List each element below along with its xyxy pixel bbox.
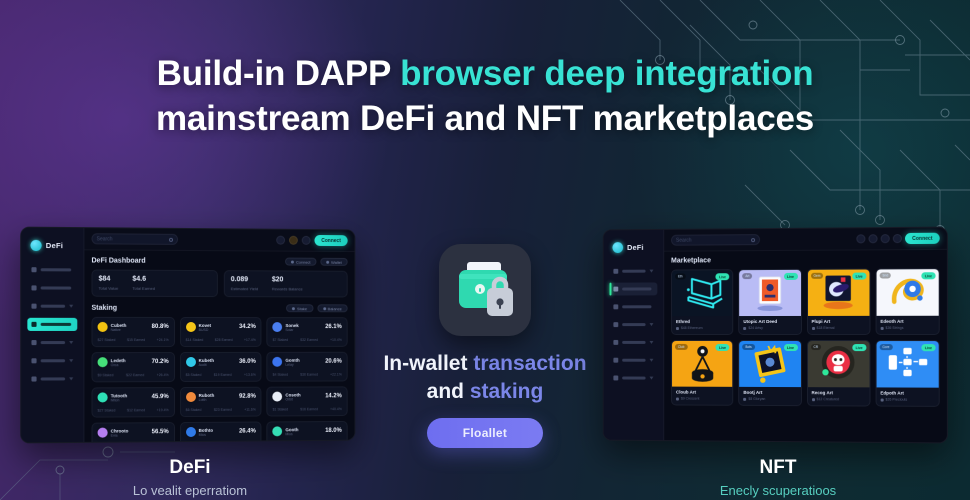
nft-card[interactable]: BotsLiveBootj Art$8 Gloryan [738, 340, 801, 406]
nav-item-icon [613, 358, 618, 363]
stat-value: $84 [99, 276, 119, 285]
nft-meta: Bootj Art$8 Gloryan [739, 387, 800, 405]
center-text-blue-2: staking [470, 380, 544, 403]
staking-pool-card[interactable]: GomthLelay20.6%$4 Staked$30 Earned+22.1% [267, 352, 348, 382]
pool-staked: $14 Staked [186, 338, 204, 342]
nft-artwork: CoreLive [876, 341, 938, 388]
currency-icon [812, 326, 815, 329]
pool-change: +17.4% [244, 338, 256, 342]
status-badge: Live [921, 344, 935, 351]
stat-label: Total Earned [132, 286, 155, 291]
nft-nav-list [609, 265, 659, 385]
pool-staked: $27 Staked [98, 409, 116, 413]
pool-names: GomthLelay [285, 357, 299, 367]
nav-item-icon [31, 358, 36, 363]
currency-icon [880, 398, 883, 401]
nft-content: Marketplace EthLiveEthred$48 EthereumArt… [664, 250, 947, 443]
pool-names: KubethAudit [199, 358, 214, 368]
pool-footer: $9 Staked$22 Earned+26.4% [98, 373, 169, 377]
defi-dashboard-title: DeFi Dashboard [91, 257, 145, 264]
caption-nft-subtitle: Enecly scuperatioos [648, 483, 908, 498]
pool-subtitle: Lelay [285, 363, 299, 367]
nav-item-icon [31, 285, 36, 290]
headline-line-1: Build-in DAPP browser deep integration [0, 52, 970, 97]
sidebar-item-transaction[interactable] [27, 318, 77, 331]
nft-name: Ethred [676, 319, 729, 324]
sidebar-item-stake[interactable] [27, 300, 77, 313]
pool-subtitle: Lotth [199, 398, 215, 402]
pool-change: +11.6% [244, 408, 256, 412]
sidebar-item-discover[interactable] [27, 281, 77, 294]
token-icon [273, 357, 283, 367]
pool-header: RubothLotth92.8% [186, 392, 256, 402]
nft-name: Utopic Art Deed [743, 319, 796, 324]
pool-staked: $4 Staked [273, 373, 289, 377]
pool-earned: $30 Earned [300, 373, 318, 377]
caption-nft-title: NFT [648, 458, 908, 479]
sidebar-item-label [41, 341, 65, 344]
sidebar-item-label [622, 359, 645, 362]
nft-card-grid: EthLiveEthred$48 EthereumArtLiveUtopic A… [671, 268, 940, 407]
pool-header: TutoothMitoh45.9% [98, 392, 169, 402]
token-icon [98, 393, 108, 403]
pool-staked: $1 Staked [273, 408, 289, 412]
pool-change: +40.4% [330, 408, 342, 412]
pool-earned: $23 Earned [214, 408, 232, 412]
pool-subtitle: Solar [285, 328, 298, 332]
sidebar-item-my-stats[interactable] [27, 354, 77, 367]
defi-sidebar: DeFi [21, 228, 84, 443]
stake-button[interactable]: Stake [286, 305, 313, 313]
nft-artwork: BotsLive [739, 341, 800, 387]
nft-meta: Ethred$48 Ethereum [672, 316, 732, 334]
token-icon [98, 322, 108, 332]
nft-tag: Gem [811, 273, 824, 279]
nft-price-label: $48 Ethereum [681, 326, 703, 330]
button-label: Balance [328, 306, 342, 311]
pool-names: KovetBUSD [199, 323, 211, 333]
chevron-down-icon [650, 323, 654, 326]
nft-meta: Plupi Art$18 Eternal [808, 316, 870, 334]
dot-icon [326, 260, 329, 263]
staking-pool-card[interactable]: KubethAudit36.0%$5 Staked$19 Earned+13.6… [180, 352, 262, 382]
nft-marketplace-title: Marketplace [671, 257, 711, 264]
pool-names: RubothLotth [199, 392, 215, 402]
sidebar-item-label [622, 323, 645, 326]
stat-item: $20Rewards Balance [272, 276, 303, 291]
sidebar-item-transfer[interactable] [610, 372, 658, 385]
nft-logo-label: DeFi [627, 243, 644, 252]
pool-earned: $28 Earned [215, 338, 233, 342]
staking-pool-card[interactable]: GoothMios18.0%$10 Staked$21 Earned+69.1% [267, 421, 348, 442]
staking-pool-card[interactable]: CubethNative80.8%$27 Staked$15 Earned+24… [91, 317, 174, 347]
nft-tag: Art [742, 273, 752, 279]
button-label: Wallet [331, 259, 342, 264]
nft-price-label: $36 Strings [885, 326, 903, 330]
nft-price: $8 Gloryan [743, 397, 796, 401]
nav-item-icon [613, 304, 618, 309]
pool-apy: 45.9% [152, 394, 169, 400]
nft-tag: Bots [742, 344, 754, 350]
pool-earned: $19 Earned [214, 373, 232, 377]
button-label: Connect [296, 259, 311, 264]
defi-pool-grid: CubethNative80.8%$27 Staked$15 Earned+24… [91, 317, 347, 442]
wallet-lock-svg [439, 244, 531, 336]
nft-card[interactable]: EthLiveEthred$48 Ethereum [671, 269, 733, 335]
defi-app-mockup: DeFi Search Connect DeFi Dashboard [20, 227, 355, 444]
defi-stats-row: $84Total Value$4.6Total Earned0.089Estim… [91, 270, 347, 298]
token-icon [273, 392, 283, 402]
defi-staking-title: Staking [91, 305, 117, 312]
nft-card[interactable]: CRLiveRecog Art$12 Creatured [807, 340, 871, 407]
stat-item: $84Total Value [99, 276, 119, 292]
pool-header: KovetBUSD34.2% [186, 322, 256, 332]
status-badge: Live [852, 273, 866, 280]
defi-search-placeholder: Search [97, 236, 113, 242]
nft-price: $9 Crescent [676, 397, 729, 401]
pool-footer: $27 Staked$15 Earned+24.1% [98, 338, 169, 342]
bell-icon[interactable] [302, 236, 311, 245]
status-badge: Live [921, 272, 935, 279]
nft-name: Edeoth Art [880, 319, 934, 324]
center-text-blue-1: transaction [473, 352, 586, 375]
nft-name: Edpoth Art [880, 390, 934, 395]
pool-change: +22.1% [330, 373, 342, 377]
caption-nft: NFT Enecly scuperatioos [648, 458, 908, 498]
nft-logo: DeFi [612, 242, 658, 253]
staking-pool-card[interactable]: SonekSolar26.1%$7 Staked$32 Earned+10.4% [267, 317, 348, 347]
currency-icon [676, 327, 679, 330]
stat-label: Estimated Yield [231, 287, 258, 292]
defi-topbar: Search Connect [84, 228, 354, 252]
nft-name: Bootj Art [743, 390, 796, 395]
stat-label: Rewards Balance [272, 287, 303, 292]
staking-pool-card[interactable]: KovetBUSD34.2%$14 Staked$28 Earned+17.4% [180, 317, 262, 347]
pool-staked: $6 Staked [186, 408, 202, 412]
headline-line-2: mainstream DeFi and NFT marketplaces [0, 97, 970, 142]
staking-pool-card[interactable]: TutoothMitoh45.9%$27 Staked$12 Earned+19… [91, 387, 174, 418]
caption-defi-title: DeFi [60, 458, 320, 479]
avatar[interactable] [893, 234, 902, 243]
staking-pool-card[interactable]: LedethOrca70.2%$9 Staked$22 Earned+26.4% [91, 352, 174, 382]
pool-staked: $9 Staked [98, 374, 114, 378]
staking-pool-card[interactable]: CosothOrbit14.2%$1 Staked$16 Earned+40.4… [267, 387, 348, 417]
pool-footer: $6 Staked$23 Earned+11.6% [186, 408, 256, 412]
nav-item-icon [31, 376, 36, 381]
caption-defi-subtitle: Lo vealit eperratiom [60, 483, 320, 498]
sidebar-item-sales-event[interactable] [610, 336, 658, 349]
defi-content: DeFi Dashboard ConnectWallet $84Total Va… [84, 250, 354, 442]
sidebar-item-my-stats[interactable] [610, 354, 658, 367]
sidebar-item-label [41, 286, 72, 289]
pool-staked: $27 Staked [98, 338, 116, 342]
pool-header: GoothMios18.0% [273, 426, 342, 436]
pool-footer: $5 Staked$19 Earned+13.6% [186, 373, 256, 377]
defi-dashboard-header: DeFi Dashboard ConnectWallet [91, 256, 347, 265]
nft-main: Search Connect Marketplace EthLiveEthred… [664, 228, 947, 443]
nft-price: $26 Preciouts [880, 398, 934, 402]
sidebar-item-my-collectibles[interactable] [610, 318, 658, 331]
chevron-down-icon [650, 377, 654, 380]
token-icon [98, 428, 108, 438]
pool-apy: 56.5% [152, 430, 169, 436]
search-icon [169, 237, 173, 241]
pool-apy: 70.2% [152, 359, 169, 365]
nft-price-label: $18 Eternal [817, 326, 835, 330]
center-tagline: In-wallet transaction and staking [383, 350, 586, 405]
currency-icon [743, 327, 746, 330]
nft-artwork: GemLive [808, 270, 870, 316]
token-icon [186, 427, 196, 437]
pool-header: CosothOrbit14.2% [273, 392, 342, 402]
nft-sidebar: DeFi [604, 230, 665, 440]
pool-header: GomthLelay20.6% [273, 357, 342, 367]
wallet-lock-icon [439, 244, 531, 336]
gear-icon[interactable] [868, 234, 877, 243]
status-badge: Live [852, 344, 866, 351]
defi-staking-buttons: StakeBalance [286, 305, 347, 313]
nav-item-icon [31, 304, 36, 309]
pool-header: SonekSolar26.1% [273, 322, 342, 332]
staking-pool-card[interactable]: ChrootoEvia56.5%$12 Staked$25 Earned+15.… [91, 422, 174, 441]
nft-price: $24 Artsy [743, 326, 796, 330]
pool-change: +10.4% [330, 338, 342, 342]
status-badge: Live [716, 273, 730, 280]
pool-change: +19.4% [157, 409, 169, 413]
nft-tag: Core [879, 344, 892, 350]
nft-card[interactable]: SndLiveEdeoth Art$36 Strings [875, 268, 939, 335]
balance-button[interactable]: Balance [317, 305, 348, 313]
nft-card[interactable]: GemLivePlupi Art$18 Eternal [807, 269, 871, 335]
pool-names: SonekSolar [285, 323, 298, 333]
pool-earned: $16 Earned [300, 408, 318, 412]
chevron-down-icon [650, 359, 654, 362]
nft-artwork: SndLive [876, 269, 938, 316]
pool-header: BothtoMios26.4% [186, 427, 256, 438]
dot-icon [323, 307, 326, 310]
chevron-down-icon [69, 359, 73, 362]
token-icon [186, 357, 196, 367]
sidebar-item-marketplace[interactable] [27, 336, 77, 349]
pool-names: CubethNative [111, 323, 127, 333]
pool-names: ChrootoEvia [111, 428, 129, 438]
currency-icon [880, 326, 883, 329]
nav-item-icon [613, 322, 618, 327]
pool-apy: 34.2% [239, 324, 256, 330]
center-text-white-1: In-wallet [383, 352, 473, 375]
sidebar-item-dashboard[interactable] [27, 263, 77, 276]
pool-header: CubethNative80.8% [98, 322, 169, 332]
nft-name: Recog Art [812, 390, 866, 395]
nav-item-icon [31, 322, 36, 327]
connect-button[interactable]: Connect [285, 258, 316, 266]
nft-tag: CR [811, 344, 822, 350]
sidebar-item-label [41, 305, 65, 308]
token-icon [273, 427, 283, 437]
pool-names: LedethOrca [111, 358, 126, 368]
status-badge: Live [716, 344, 730, 351]
nft-name: Plupi Art [812, 319, 866, 324]
pool-apy: 14.2% [325, 394, 342, 400]
pool-subtitle: Orca [111, 363, 126, 367]
pool-footer: $27 Staked$12 Earned+19.4% [98, 409, 169, 413]
pool-apy: 18.0% [325, 428, 342, 434]
sidebar-item-discover[interactable] [610, 265, 658, 278]
pool-apy: 92.8% [239, 394, 256, 400]
nft-tag: Club [675, 344, 687, 350]
defi-header-buttons: ConnectWallet [285, 258, 347, 266]
staking-pool-card[interactable]: RubothLotth92.8%$6 Staked$23 Earned+11.6… [180, 387, 262, 417]
search-icon [751, 238, 755, 242]
pool-apy: 20.6% [325, 359, 342, 365]
nft-card[interactable]: CoreLiveEdpoth Art$26 Preciouts [875, 340, 939, 407]
nft-artwork: EthLive [672, 270, 732, 316]
token-icon [186, 392, 196, 402]
stat-item: $4.6Total Earned [132, 276, 155, 292]
pool-names: BothtoMios [199, 427, 213, 437]
defi-main: Search Connect DeFi Dashboard ConnectWal… [84, 228, 354, 442]
sidebar-item-label [41, 268, 72, 271]
stat-value: $4.6 [132, 276, 155, 285]
pool-header: KubethAudit36.0% [186, 357, 256, 367]
sidebar-item-label [41, 377, 65, 380]
sidebar-item-label [622, 287, 651, 290]
bell-icon[interactable] [881, 234, 890, 243]
pool-staked: $5 Staked [186, 373, 202, 377]
nft-price: $18 Eternal [812, 326, 866, 330]
staking-pool-card[interactable]: BothtoMios26.4%$3 Staked$14 Earned+12.4% [180, 422, 262, 442]
pool-subtitle: Mitoh [111, 399, 128, 403]
pool-footer: $4 Staked$30 Earned+22.1% [273, 373, 342, 377]
currency-icon [743, 397, 746, 400]
nft-meta: Utopic Art Deed$24 Artsy [739, 316, 800, 334]
pool-change: +24.1% [157, 338, 169, 342]
pool-change: +26.4% [157, 373, 169, 377]
avatar[interactable] [289, 236, 298, 245]
nav-item-icon [613, 287, 618, 292]
pool-footer: $7 Staked$32 Earned+10.4% [273, 338, 342, 342]
chevron-down-icon [69, 377, 73, 380]
sidebar-item-label [622, 377, 645, 380]
nft-price: $36 Strings [880, 326, 934, 330]
pool-names: TutoothMitoh [111, 393, 128, 403]
stat-value: 0.089 [231, 276, 258, 284]
defi-search-input[interactable]: Search [91, 233, 178, 245]
stat-label: Total Value [99, 286, 119, 291]
sidebar-item-label [41, 323, 72, 326]
nft-price-label: $8 Gloryan [748, 397, 765, 401]
sidebar-item-transfer[interactable] [27, 372, 77, 385]
nft-price-label: $12 Creatured [817, 397, 840, 401]
pool-header: LedethOrca70.2% [98, 357, 169, 367]
nft-topbar: Search Connect [664, 228, 947, 252]
pool-subtitle: Native [111, 328, 127, 332]
nav-item-icon [31, 267, 36, 272]
headline-cyan-part: browser deep integration [400, 54, 813, 93]
pool-header: ChrootoEvia56.5% [98, 428, 169, 439]
pool-footer: $1 Staked$16 Earned+40.4% [273, 408, 342, 412]
pool-apy: 26.4% [239, 429, 256, 435]
dot-icon [291, 260, 294, 263]
logo-mark-icon [30, 240, 41, 251]
nft-app-mockup: DeFi Search Connect Marke [603, 227, 948, 444]
nft-marketplace-header: Marketplace [671, 256, 940, 265]
headline-white-part: Build-in DAPP [157, 54, 401, 93]
sidebar-item-label [622, 305, 651, 308]
currency-icon [812, 398, 815, 401]
pool-earned: $15 Earned [127, 338, 145, 342]
token-icon [273, 322, 283, 332]
nft-search-placeholder: Search [676, 237, 692, 243]
center-tagline-line-2: and staking [383, 378, 586, 406]
nft-card[interactable]: ClubLiveCloub Art$9 Crescent [671, 340, 733, 406]
button-label: Stake [297, 306, 307, 311]
chevron-down-icon [69, 305, 73, 308]
nav-item-icon [31, 340, 36, 345]
nft-connect-button[interactable]: Connect [905, 233, 940, 244]
stat-item: 0.089Estimated Yield [231, 276, 258, 291]
grid-icon[interactable] [856, 234, 865, 243]
defi-logo-label: DeFi [46, 241, 63, 250]
center-feature: In-wallet transaction and staking Floall… [370, 244, 600, 448]
chevron-down-icon [650, 270, 654, 273]
nav-item-icon [613, 340, 618, 345]
currency-icon [676, 397, 679, 400]
nft-artwork: ClubLive [672, 341, 732, 387]
nft-price-label: $26 Preciouts [885, 398, 907, 402]
pool-change: +13.6% [244, 373, 256, 377]
defi-connect-button[interactable]: Connect [314, 235, 347, 246]
cta-button[interactable]: Floallet [427, 418, 543, 448]
sidebar-item-activity[interactable] [610, 300, 658, 313]
pool-subtitle: BUSD [199, 328, 211, 332]
chevron-down-icon [650, 341, 654, 344]
nft-name: Cloub Art [676, 390, 729, 395]
pool-earned: $12 Earned [127, 409, 145, 413]
status-badge: Live [783, 344, 797, 351]
pool-apy: 26.1% [325, 325, 342, 331]
pool-subtitle: Orbit [285, 398, 300, 402]
logo-mark-icon [612, 242, 623, 253]
pool-staked: $7 Staked [273, 338, 289, 342]
pool-subtitle: Audit [199, 363, 214, 367]
wallet-button[interactable]: Wallet [320, 258, 347, 266]
nft-search-input[interactable]: Search [671, 234, 760, 246]
sidebar-item-label [622, 270, 645, 273]
pool-apy: 80.8% [152, 324, 169, 330]
nft-price-label: $9 Crescent [681, 397, 700, 401]
pool-names: CosothOrbit [285, 392, 300, 402]
chevron-down-icon [69, 341, 73, 344]
pool-subtitle: Evia [111, 434, 129, 438]
nft-price: $48 Ethereum [676, 326, 729, 330]
sidebar-item-label [41, 359, 65, 362]
nft-meta: Recog Art$12 Creatured [808, 387, 870, 405]
nft-tag: Snd [879, 272, 891, 278]
pool-subtitle: Mios [199, 433, 213, 437]
sidebar-item-marketplace[interactable] [610, 282, 658, 295]
pool-earned: $22 Earned [126, 374, 144, 378]
stat-card: $84Total Value$4.6Total Earned [91, 270, 217, 298]
headline: Build-in DAPP browser deep integration m… [0, 52, 970, 142]
stat-value: $20 [272, 276, 303, 284]
nft-card[interactable]: ArtLiveUtopic Art Deed$24 Artsy [738, 269, 801, 335]
nft-artwork: ArtLive [739, 270, 800, 316]
nft-price: $12 Creatured [812, 397, 866, 401]
grid-icon[interactable] [276, 236, 285, 245]
nft-meta: Edpoth Art$26 Preciouts [876, 387, 938, 405]
stat-card: 0.089Estimated Yield$20Rewards Balance [224, 270, 348, 298]
